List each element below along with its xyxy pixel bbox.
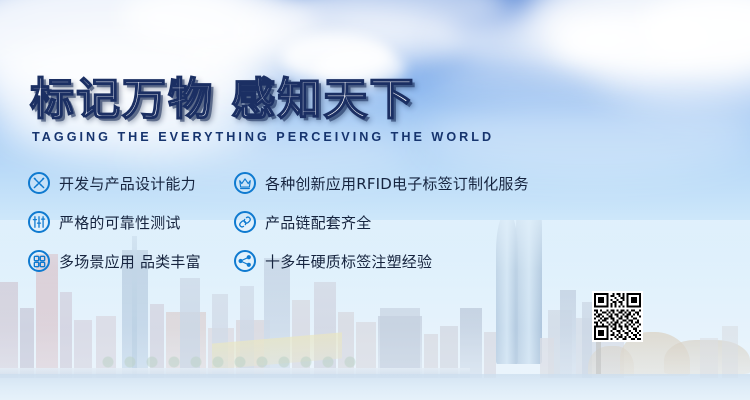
feature-label: 开发与产品设计能力 — [59, 173, 196, 194]
feature-label: 产品链配套齐全 — [265, 212, 371, 233]
feature-label: 各种创新应用RFID电子标签订制化服务 — [265, 173, 529, 194]
waterfront — [0, 374, 750, 400]
feature-label: 严格的可靠性测试 — [59, 212, 181, 233]
share-icon — [234, 250, 256, 272]
sliders-icon — [28, 211, 50, 233]
feature-item-multi-scenario: 多场景应用 品类丰富 — [28, 250, 201, 272]
qr-code[interactable] — [592, 291, 643, 342]
crown-icon — [234, 172, 256, 194]
page-title: 标记万物 感知天下 — [30, 76, 415, 124]
feature-item-reliability-test: 严格的可靠性测试 — [28, 211, 181, 233]
twin-tower-left — [496, 220, 518, 364]
twin-tower-right — [516, 220, 542, 364]
qr-code-image — [592, 291, 643, 342]
tools-icon — [28, 172, 50, 194]
feature-item-development: 开发与产品设计能力 — [28, 172, 196, 194]
feature-item-supply-chain: 产品链配套齐全 — [234, 211, 371, 233]
grid-icon — [28, 250, 50, 272]
feature-label: 多场景应用 品类丰富 — [59, 251, 201, 272]
feature-item-molding-experience: 十多年硬质标签注塑经验 — [234, 250, 432, 272]
promo-banner: 标记万物 感知天下 TAGGING THE EVERYTHING PERCEIV… — [0, 0, 750, 400]
link-icon — [234, 211, 256, 233]
feature-item-rfid-customization: 各种创新应用RFID电子标签订制化服务 — [234, 172, 529, 194]
page-subtitle: TAGGING THE EVERYTHING PERCEIVING THE WO… — [32, 129, 494, 145]
feature-label: 十多年硬质标签注塑经验 — [265, 251, 432, 272]
